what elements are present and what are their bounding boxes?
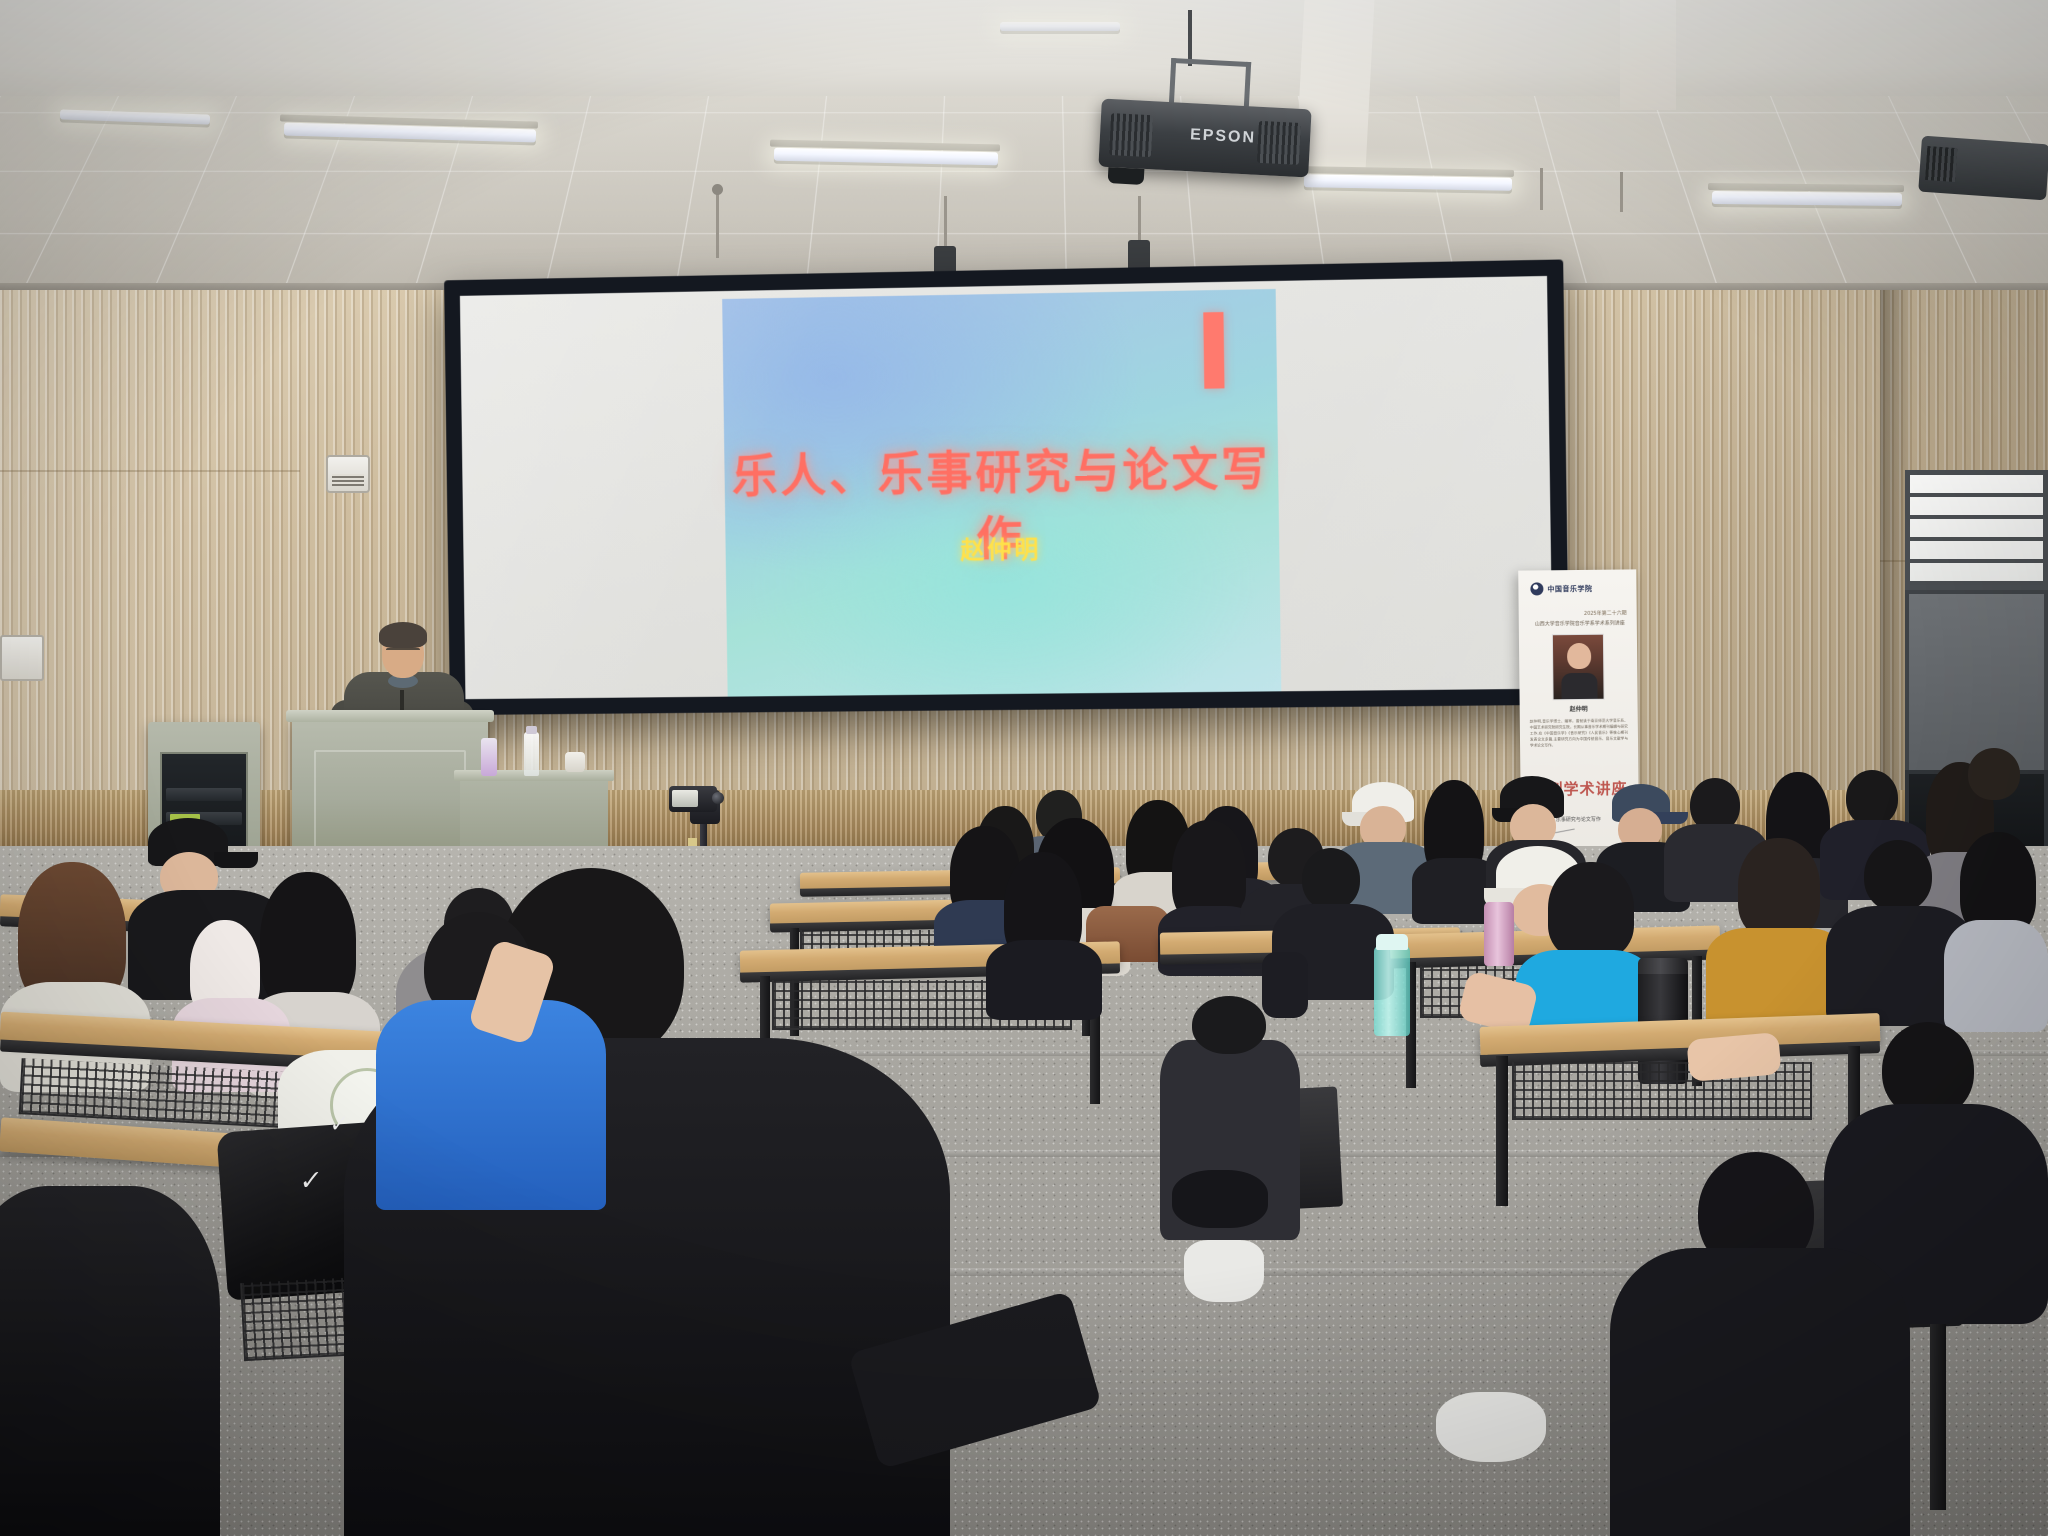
banner-speaker-name: 赵仲明 [1520, 703, 1638, 713]
window-blinds [1910, 475, 2043, 585]
teal-bottle-cap [1376, 934, 1408, 950]
banner-issue-line: 2025年第二十六期 [1559, 609, 1627, 617]
nike-swoosh-icon: ✓ [298, 1165, 323, 1197]
banner-speaker-bio: 赵仲明,音乐学博士、编审。曾就读于南京师范大学音乐系、中国艺术研究院研究生院。长… [1530, 717, 1628, 748]
banner-speaker-photo [1552, 634, 1605, 701]
nike-swoosh-icon-2: ✓ [329, 1111, 350, 1138]
projector-brand-label: EPSON [1190, 126, 1257, 147]
camera-lens [712, 792, 724, 804]
ceiling-hanger-rod-1 [716, 188, 719, 258]
wall-joint-left [0, 470, 300, 472]
podium-top-surface [286, 710, 494, 722]
banner-series-line: 山西大学音乐学院音乐学系学术系列讲座 [1533, 619, 1627, 627]
camera-lcd-screen [672, 790, 698, 807]
banner-photo-body [1561, 673, 1597, 699]
secondary-projector [1918, 136, 2048, 201]
ceiling-hanger-rod-4 [1540, 168, 1543, 210]
ceiling-hanger-rod-2 [944, 196, 947, 248]
wall-ac-control-unit[interactable] [326, 455, 370, 493]
university-seal-icon [1530, 582, 1543, 595]
ceiling-light-6 [1000, 22, 1120, 31]
water-bottle-cap [526, 726, 537, 734]
podium [292, 716, 488, 866]
black-thermos-lid [1638, 958, 1688, 974]
wall-outlet-panel[interactable] [0, 635, 44, 681]
ceiling-hanger-knob-1 [712, 184, 723, 195]
ceiling-hanger-rod-5 [1620, 172, 1623, 212]
hand-sanitizer-bottle [481, 738, 497, 776]
lecture-hall-photo: EPSON 乐人、乐事研究与论文写作 赵仲明 中国音乐学院 [0, 0, 2048, 1536]
pink-water-bottle [1484, 902, 1514, 966]
banner-logo-text: 中国音乐学院 [1547, 583, 1592, 593]
student-arm-on-desk [1686, 1032, 1781, 1082]
banner-logo: 中国音乐学院 [1530, 582, 1592, 596]
projection-screen-surface: 乐人、乐事研究与论文写作 赵仲明 [460, 276, 1553, 699]
teal-water-bottle [1374, 946, 1410, 1036]
projected-slide: 乐人、乐事研究与论文写作 赵仲明 [722, 289, 1282, 697]
chair-leg-2 [1930, 1300, 1946, 1510]
presenter-glasses [386, 648, 420, 655]
presenter-hair [379, 622, 427, 648]
ceiling-light-4 [1712, 191, 1902, 206]
window-frame [1905, 470, 2048, 590]
slide-author: 赵仲明 [725, 526, 1280, 568]
projector-cable [1188, 10, 1192, 66]
projection-screen: 乐人、乐事研究与论文写作 赵仲明 [444, 259, 1569, 715]
slide-accent-bar [1203, 312, 1224, 389]
projector-lens [1108, 167, 1145, 185]
desk-leg-rowR2-a [1496, 1056, 1508, 1206]
ceiling-beam-right [1620, 0, 1676, 110]
av-amplifier [166, 788, 242, 801]
paper-cup [565, 752, 585, 772]
water-bottle-podium [524, 732, 539, 776]
